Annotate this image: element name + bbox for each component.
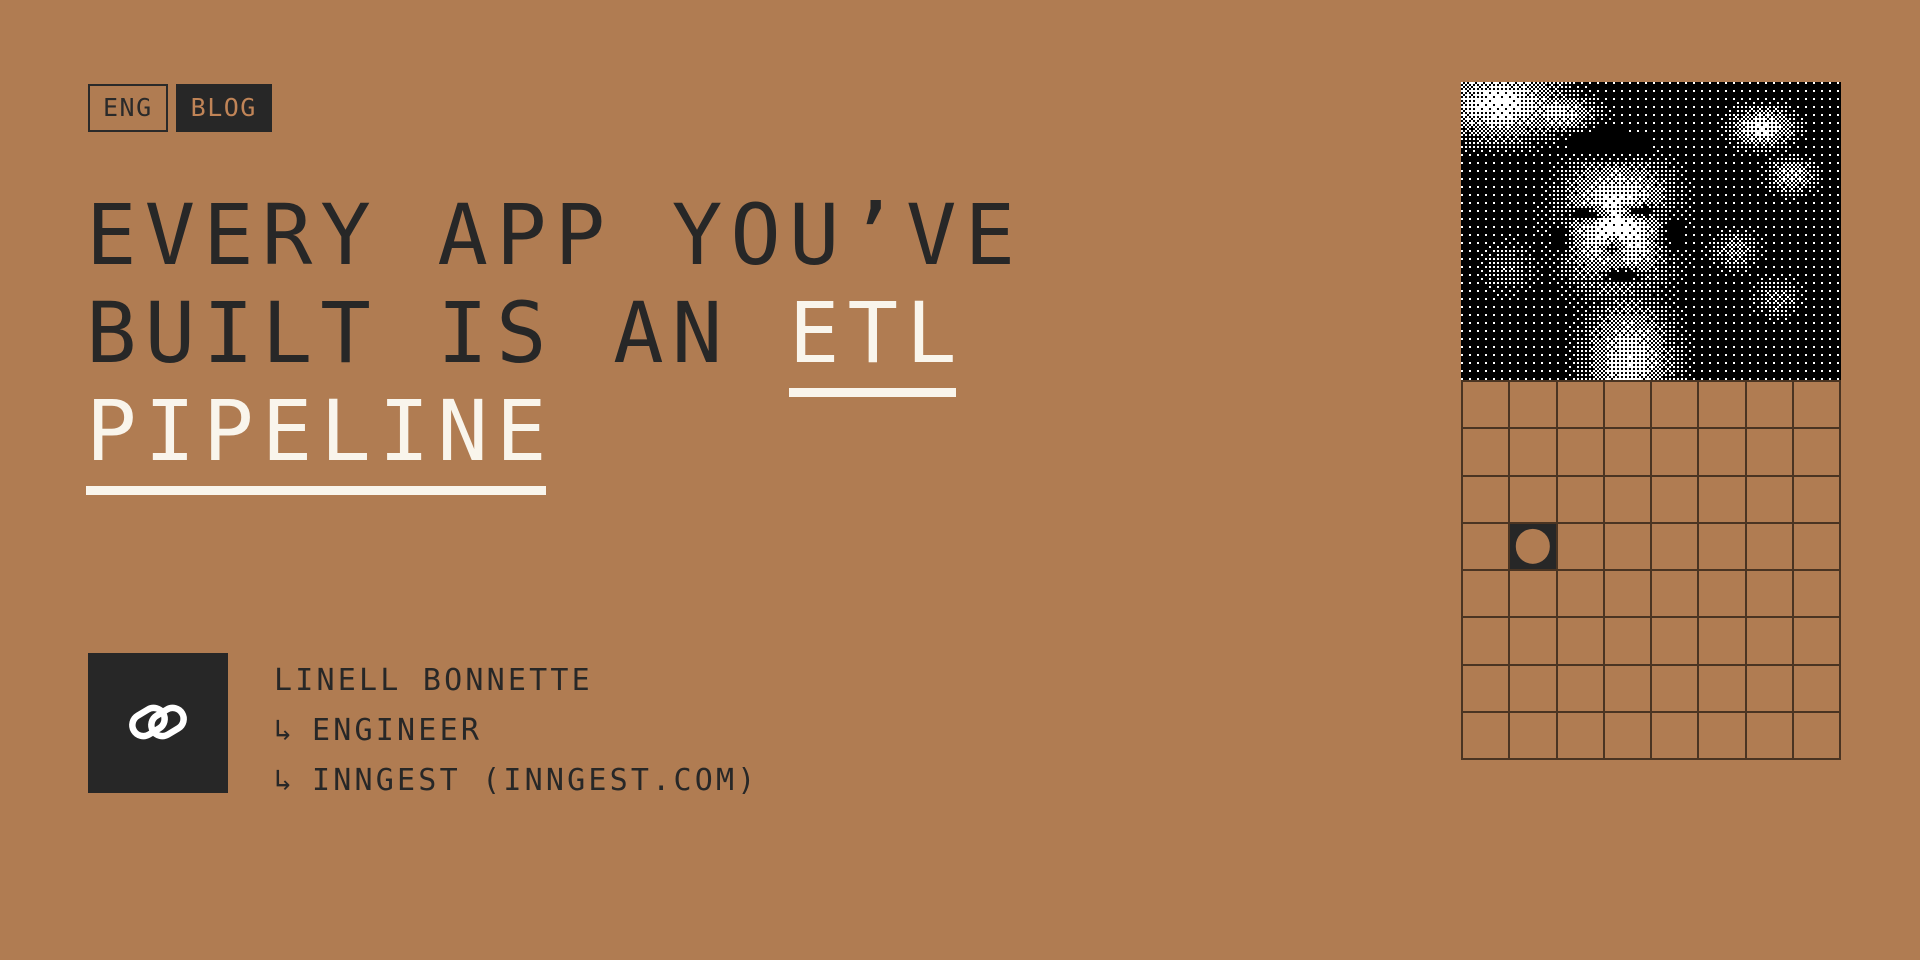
author-block: LINELL BONNETTE ↳ENGINEER ↳INNGEST (INNG…	[88, 653, 759, 806]
grid-cell	[1699, 571, 1746, 618]
media-column	[1461, 82, 1841, 760]
grid-cell	[1558, 571, 1605, 618]
grid-cell	[1652, 666, 1699, 713]
grid-cell	[1463, 382, 1510, 429]
grid-cell	[1747, 429, 1794, 476]
grid-cell	[1558, 713, 1605, 760]
grid-cell	[1699, 713, 1746, 760]
grid-cell	[1794, 713, 1841, 760]
grid-cell	[1463, 571, 1510, 618]
grid-cell	[1463, 618, 1510, 665]
grid-cell	[1794, 571, 1841, 618]
grid-cell	[1794, 618, 1841, 665]
grid-cell	[1510, 618, 1557, 665]
grid-cell	[1747, 571, 1794, 618]
poster-canvas: ENG BLOG EVERY APP YOU’VE BUILT IS AN ET…	[0, 0, 1920, 960]
grid-cell	[1510, 382, 1557, 429]
grid-cell	[1605, 429, 1652, 476]
grid-cell	[1794, 666, 1841, 713]
grid-cell	[1510, 666, 1557, 713]
grid-cell	[1510, 571, 1557, 618]
grid-cell	[1699, 618, 1746, 665]
grid-cell	[1605, 666, 1652, 713]
grid-cell	[1605, 382, 1652, 429]
author-details: LINELL BONNETTE ↳ENGINEER ↳INNGEST (INNG…	[274, 653, 759, 806]
headline-line-1-text: EVERY APP YOU’VE	[86, 186, 1023, 284]
grid-cell	[1558, 429, 1605, 476]
grid-cell	[1558, 524, 1605, 571]
badge-category[interactable]: ENG	[88, 84, 168, 132]
author-name: LINELL BONNETTE	[274, 656, 759, 706]
badge-group: ENG BLOG	[88, 84, 272, 132]
grid-cell	[1747, 618, 1794, 665]
grid-cell	[1794, 382, 1841, 429]
grid-cell	[1605, 713, 1652, 760]
grid-cell	[1605, 618, 1652, 665]
grid-cell	[1699, 477, 1746, 524]
grid-cell	[1794, 477, 1841, 524]
arrow-icon: ↳	[274, 706, 312, 756]
grid-cell	[1652, 382, 1699, 429]
grid-cell	[1699, 382, 1746, 429]
badge-type[interactable]: BLOG	[176, 84, 272, 132]
grid-cell	[1510, 429, 1557, 476]
headline-line-2: BUILT IS AN ETL	[86, 284, 1346, 382]
grid-cell	[1605, 524, 1652, 571]
page-title: EVERY APP YOU’VE BUILT IS AN ETL PIPELIN…	[86, 186, 1346, 480]
grid-cell	[1652, 618, 1699, 665]
grid-cell	[1510, 713, 1557, 760]
grid-cell	[1605, 571, 1652, 618]
grid-cell	[1747, 713, 1794, 760]
grid-cell	[1747, 477, 1794, 524]
grid-cell	[1652, 477, 1699, 524]
grid-cell	[1652, 524, 1699, 571]
decorative-grid	[1461, 380, 1841, 760]
headline-line-2-prefix: BUILT IS AN	[86, 284, 789, 382]
grid-cell	[1463, 713, 1510, 760]
author-name-text: LINELL BONNETTE	[274, 663, 593, 698]
grid-cell	[1463, 429, 1510, 476]
author-company: ↳INNGEST (INNGEST.COM)	[274, 756, 759, 806]
grid-cell	[1558, 666, 1605, 713]
author-company-text: INNGEST (INNGEST.COM)	[312, 763, 759, 798]
grid-cell	[1794, 524, 1841, 571]
grid-cell	[1463, 477, 1510, 524]
author-portrait	[1461, 82, 1841, 380]
grid-cell	[1747, 524, 1794, 571]
grid-cell-accent	[1510, 524, 1557, 571]
grid-cell	[1699, 524, 1746, 571]
grid-cell	[1699, 429, 1746, 476]
grid-cell	[1747, 382, 1794, 429]
grid-cell	[1558, 477, 1605, 524]
headline-highlight-etl: ETL	[789, 284, 965, 382]
arrow-icon: ↳	[274, 756, 312, 806]
headline-highlight-pipeline: PIPELINE	[86, 382, 555, 480]
grid-cell	[1699, 666, 1746, 713]
halftone-portrait-image	[1461, 82, 1841, 380]
grid-cell	[1558, 382, 1605, 429]
grid-cell	[1510, 477, 1557, 524]
headline-line-3: PIPELINE	[86, 382, 1346, 480]
author-role-text: ENGINEER	[312, 713, 482, 748]
headline-line-1: EVERY APP YOU’VE	[86, 186, 1346, 284]
inngest-logo	[88, 653, 228, 793]
author-role: ↳ENGINEER	[274, 706, 759, 756]
grid-cell	[1652, 713, 1699, 760]
grid-cell	[1652, 571, 1699, 618]
grid-cell	[1652, 429, 1699, 476]
grid-cell	[1463, 666, 1510, 713]
grid-cell	[1605, 477, 1652, 524]
inngest-logo-icon	[120, 685, 196, 761]
grid-cell	[1463, 524, 1510, 571]
grid-cell	[1747, 666, 1794, 713]
grid-cell	[1794, 429, 1841, 476]
grid-cell	[1558, 618, 1605, 665]
